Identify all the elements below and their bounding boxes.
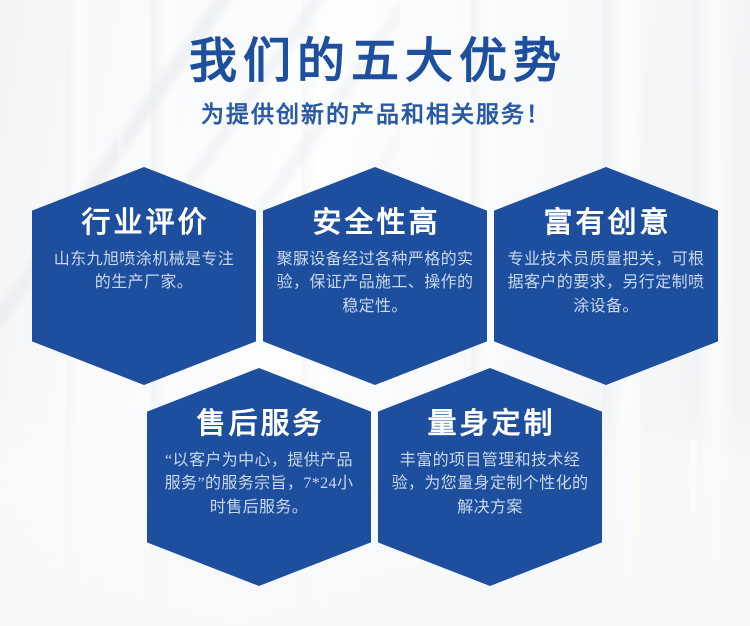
advantage-card-creative[interactable]: 富有创意 专业技术员质量把关，可根据客户的要求，另行定制喷涂设备。 <box>494 167 718 385</box>
advantage-description: 丰富的项目管理和技术经验，为您量身定制个性化的解决方案 <box>389 449 591 519</box>
advantage-title: 量身定制 <box>424 406 555 442</box>
page-title: 我们的五大优势 <box>0 34 750 91</box>
advantage-card-industry-evaluation[interactable]: 行业评价 山东九旭喷涂机械是专注的生产厂家。 <box>32 167 256 385</box>
header: 我们的五大优势 为提供创新的产品和相关服务！ <box>0 34 750 128</box>
advantage-description: 山东九旭喷涂机械是专注的生产厂家。 <box>46 248 242 294</box>
advantage-description: 聚脲设备经过各种严格的实验，保证产品施工、操作的稳定性。 <box>274 248 476 318</box>
page-subtitle: 为提供创新的产品和相关服务！ <box>0 101 750 129</box>
promo-banner: 我们的五大优势 为提供创新的产品和相关服务！ 行业评价 山东九旭喷涂机械是专注的… <box>0 0 750 626</box>
advantage-title: 安全性高 <box>309 205 440 241</box>
advantage-title: 售后服务 <box>193 406 324 442</box>
advantage-title: 行业评价 <box>78 205 209 241</box>
advantage-description: 专业技术员质量把关，可根据客户的要求，另行定制喷涂设备。 <box>505 248 707 318</box>
advantage-card-tailor-made[interactable]: 量身定制 丰富的项目管理和技术经验，为您量身定制个性化的解决方案 <box>378 368 602 586</box>
advantage-description: “以客户为中心，提供产品服务”的服务宗旨，7*24小时售后服务。 <box>158 449 360 519</box>
advantage-card-high-safety[interactable]: 安全性高 聚脲设备经过各种严格的实验，保证产品施工、操作的稳定性。 <box>263 167 487 385</box>
advantage-title: 富有创意 <box>540 205 671 241</box>
advantage-card-after-sales-service[interactable]: 售后服务 “以客户为中心，提供产品服务”的服务宗旨，7*24小时售后服务。 <box>147 368 371 586</box>
